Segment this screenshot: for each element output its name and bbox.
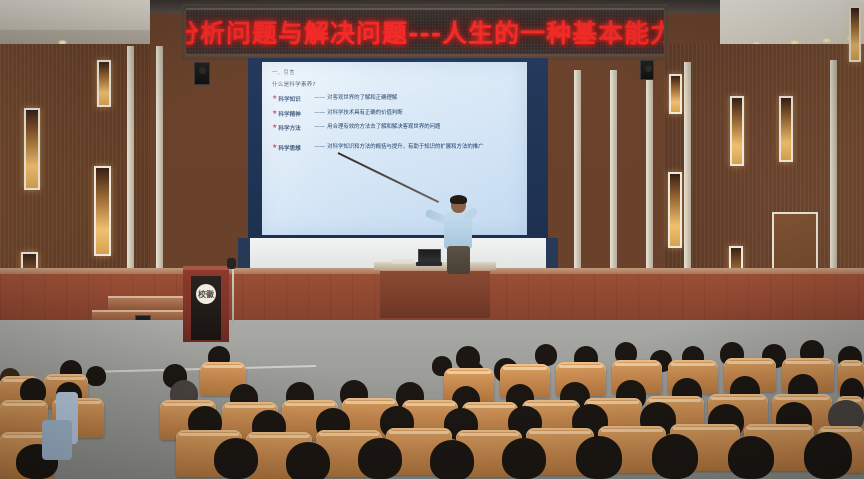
audience-head [652,434,698,479]
audience-head [358,438,402,479]
presenter [436,196,480,274]
bullet-term: 科学精神 [278,110,312,118]
audience-head [804,432,852,479]
lecture-hall-scene: 分析问题与解决问题---人生的一种基本能力 一、引言 什么是科学素养? ★ 科学… [0,0,864,479]
slide-bullet: ★ 科学知识 —— 对客观世界的了解和正确理解 [272,95,519,103]
bullet-dash: —— [314,144,325,150]
bullet-term: 科学思想 [278,144,312,152]
microphone-icon [227,258,236,269]
audience-head [430,440,474,479]
wall-niche [668,172,682,248]
bullet-dash: —— [314,124,325,130]
slide-bullet: ★ 科学方法 —— 用合理有效的方法去了解和解决客观世界的问题 [272,124,519,132]
presenter-hair [450,195,467,204]
slide-question: 什么是科学素养? [272,80,519,88]
wall-niche [669,74,682,114]
slide-bullet: ★ 科学思想 —— 对科学知识和方法的概括与提升，有助于知识的扩展和方法的推广 [272,144,519,152]
audience-head [728,436,774,479]
audience-head [86,366,106,386]
bullet-definition: 用合理有效的方法去了解和解决客观世界的问题 [327,124,440,132]
bullet-definition: 对科学技术具有正确的价值判断 [327,110,402,118]
bullet-definition: 对科学知识和方法的概括与提升，有助于知识的扩展和方法的推广 [327,144,483,152]
ceiling-light-icon [822,38,831,43]
microphone-stand [232,262,234,324]
slide-section-heading: 一、引言 [272,68,519,76]
school-emblem: 校徽 [196,284,216,304]
loudspeaker-icon [194,62,210,85]
audience-head [576,436,622,479]
wall-pillar [127,46,134,306]
projection-screen: 一、引言 什么是科学素养? ★ 科学知识 —— 对客观世界的了解和正确理解 ★ … [262,62,527,235]
loudspeaker-icon [640,60,654,80]
audience-head [286,442,330,479]
banner-text: 分析问题与解决问题---人生的一种基本能力 [186,14,664,50]
wall-niche [849,6,861,62]
bullet-star-icon: ★ [272,95,277,101]
led-banner: 分析问题与解决问题---人生的一种基本能力 [186,8,664,56]
bullet-term: 科学方法 [278,124,312,132]
bullet-dash: —— [314,95,325,101]
wall-niche [94,166,111,256]
bullet-star-icon: ★ [272,144,277,150]
bullet-definition: 对客观世界的了解和正确理解 [327,95,397,103]
wall-niche [730,96,744,166]
slide-bullet: ★ 科学精神 —— 对科学技术具有正确的价值判断 [272,110,519,118]
podium [380,268,490,318]
audience-head [502,438,546,479]
wall-niche [779,96,793,162]
wall-niche [97,60,111,107]
bullet-star-icon: ★ [272,110,277,116]
wall-niche [24,108,40,190]
bullet-star-icon: ★ [272,124,277,130]
audience-head [535,344,557,366]
bullet-dash: —— [314,110,325,116]
audience-seating [0,320,864,479]
desk-papers [392,259,414,264]
aisle-seated-person [42,420,72,460]
presenter-legs [447,246,470,274]
audience-head [214,438,258,479]
bullet-term: 科学知识 [278,95,312,103]
